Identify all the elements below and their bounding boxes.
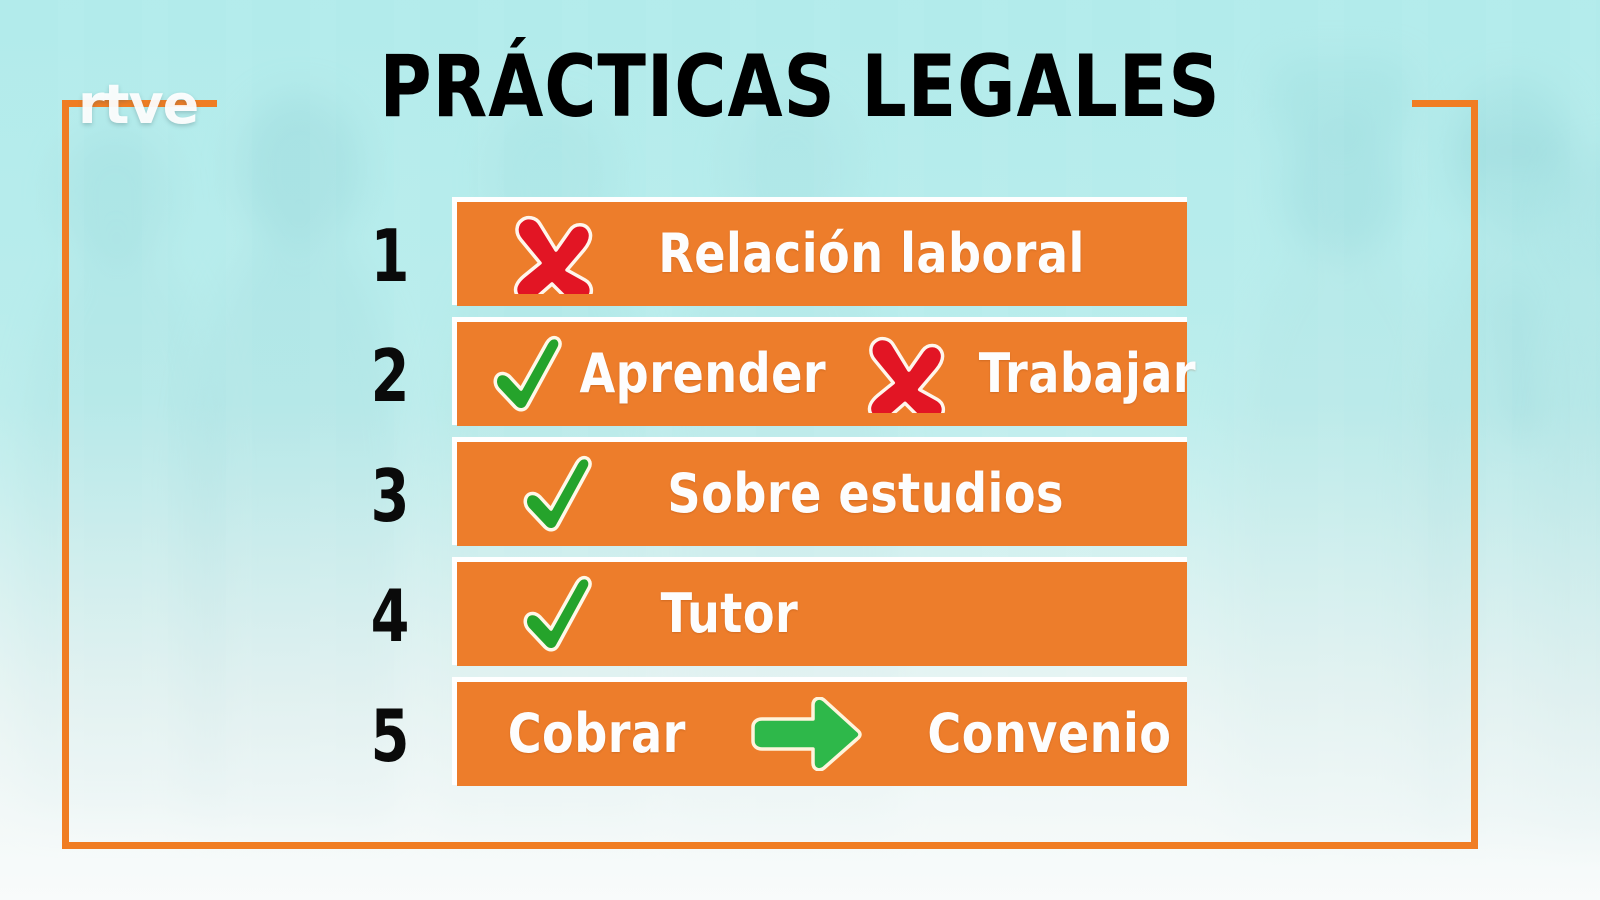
list-item-label: Cobrar bbox=[508, 707, 686, 761]
list-item-number: 5 bbox=[364, 700, 416, 772]
list-item-number: 4 bbox=[364, 580, 416, 652]
list-item-label: Aprender bbox=[579, 347, 826, 401]
list-item-bar: Aprender Trabajar bbox=[457, 322, 1192, 430]
frame-left-segment bbox=[62, 100, 69, 849]
list-item: 5 Cobrar Convenio bbox=[360, 676, 1200, 796]
list-item-label: Tutor bbox=[661, 587, 799, 641]
cross-icon bbox=[863, 335, 947, 413]
bar-content: Aprender Trabajar bbox=[457, 322, 1187, 426]
cross-icon bbox=[509, 214, 595, 294]
list-item-bar: Sobre estudios bbox=[457, 442, 1192, 550]
list-item-number: 2 bbox=[364, 340, 416, 412]
list-item: 4 Tutor bbox=[360, 556, 1200, 676]
page-title: PRÁCTICAS LEGALES bbox=[64, 42, 1536, 132]
list-item-bar: Relación laboral bbox=[457, 202, 1192, 310]
bar-content: Cobrar Convenio bbox=[457, 682, 1187, 786]
list-item-bar: Tutor bbox=[457, 562, 1192, 670]
list-item-number: 3 bbox=[364, 460, 416, 532]
bar-content: Tutor bbox=[457, 562, 1187, 666]
frame-bottom-segment bbox=[62, 842, 1478, 849]
arrow-right-icon bbox=[747, 697, 863, 771]
check-icon bbox=[491, 334, 565, 414]
legal-practices-list: 1 Relación laboral 2 Aprender bbox=[360, 196, 1200, 796]
list-item-label: Relación laboral bbox=[658, 227, 1085, 281]
bar-content: Relación laboral bbox=[457, 202, 1187, 306]
list-item: 1 Relación laboral bbox=[360, 196, 1200, 316]
list-item: 2 Aprender Trabajar bbox=[360, 316, 1200, 436]
list-item-label-secondary: Convenio bbox=[927, 707, 1171, 761]
list-item: 3 Sobre estudios bbox=[360, 436, 1200, 556]
list-item-number: 1 bbox=[364, 220, 416, 292]
check-icon bbox=[521, 573, 595, 655]
list-item-label: Sobre estudios bbox=[667, 467, 1064, 521]
check-icon bbox=[521, 453, 595, 535]
frame-right-segment bbox=[1471, 100, 1478, 849]
list-item-label-secondary: Trabajar bbox=[978, 347, 1195, 401]
list-item-bar: Cobrar Convenio bbox=[457, 682, 1192, 790]
bar-content: Sobre estudios bbox=[457, 442, 1187, 546]
